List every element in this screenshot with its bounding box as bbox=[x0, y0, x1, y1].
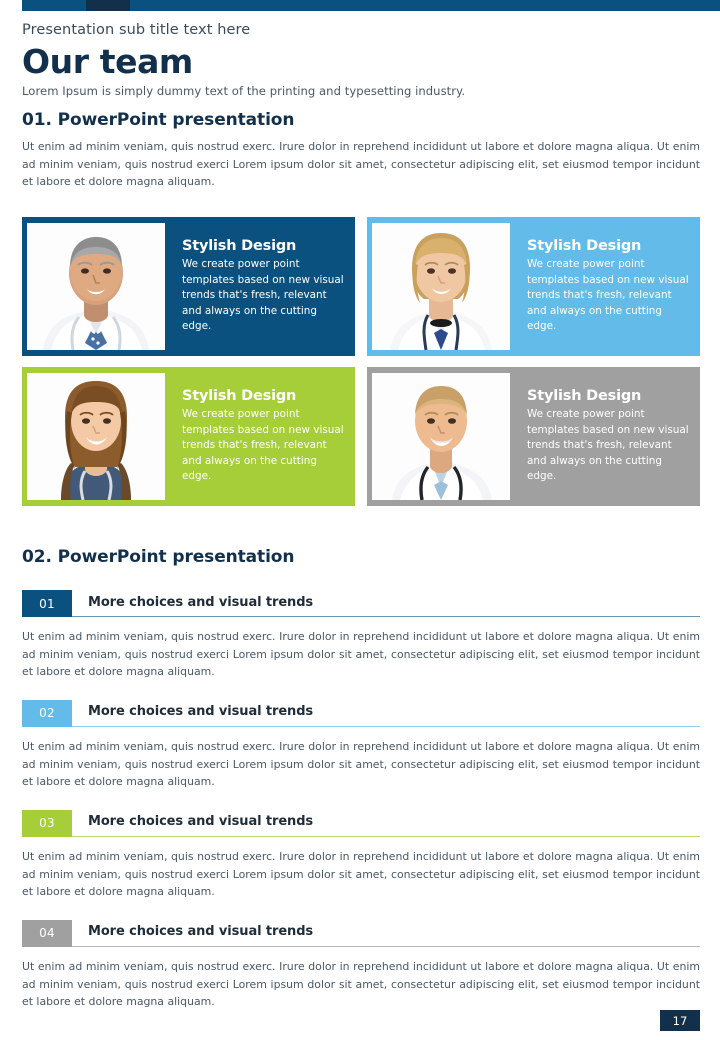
list-item-paragraph: Ut enim ad minim veniam, quis nostrud ex… bbox=[22, 628, 700, 681]
card-pointer bbox=[165, 425, 179, 451]
list-item-paragraph: Ut enim ad minim veniam, quis nostrud ex… bbox=[22, 958, 700, 1011]
list-item-title-wrap: More choices and visual trends bbox=[72, 920, 700, 947]
section-heading-02: 02. PowerPoint presentation bbox=[22, 547, 294, 567]
portrait-photo-male-doctor bbox=[27, 223, 165, 350]
list-item-header: 01 More choices and visual trends bbox=[22, 590, 700, 617]
topbar-segment-blue-right bbox=[130, 0, 720, 11]
card-text: Stylish Design We create power point tem… bbox=[165, 238, 356, 335]
topbar-left-margin bbox=[0, 0, 22, 11]
portrait-photo-female-doctor bbox=[372, 223, 510, 350]
card-text: Stylish Design We create power point tem… bbox=[165, 388, 356, 485]
list-item-header: 04 More choices and visual trends bbox=[22, 920, 700, 947]
list-item-number-badge: 04 bbox=[22, 920, 72, 947]
portrait-photo-female-nurse bbox=[27, 373, 165, 500]
section-paragraph-01: Ut enim ad minim veniam, quis nostrud ex… bbox=[22, 138, 700, 191]
list-item-title-wrap: More choices and visual trends bbox=[72, 700, 700, 727]
list-item[interactable]: 03 More choices and visual trends Ut eni… bbox=[22, 810, 700, 901]
list-item-paragraph: Ut enim ad minim veniam, quis nostrud ex… bbox=[22, 848, 700, 901]
card-photo-wrap bbox=[27, 223, 165, 350]
slide-header: Presentation sub title text here Our tea… bbox=[22, 22, 702, 98]
card-title: Stylish Design bbox=[527, 388, 693, 404]
card-title: Stylish Design bbox=[182, 238, 348, 254]
list-item-number-badge: 01 bbox=[22, 590, 72, 617]
slide: Presentation sub title text here Our tea… bbox=[0, 0, 720, 1040]
card-pointer bbox=[510, 275, 524, 301]
top-decorative-bar bbox=[0, 0, 720, 11]
team-card[interactable]: Stylish Design We create power point tem… bbox=[22, 217, 355, 356]
list-item-title-wrap: More choices and visual trends bbox=[72, 810, 700, 837]
card-title: Stylish Design bbox=[182, 388, 348, 404]
card-pointer bbox=[510, 425, 524, 451]
presentation-subtitle: Presentation sub title text here bbox=[22, 22, 702, 38]
team-card[interactable]: Stylish Design We create power point tem… bbox=[367, 217, 700, 356]
team-card[interactable]: Stylish Design We create power point tem… bbox=[367, 367, 700, 506]
list-item[interactable]: 02 More choices and visual trends Ut eni… bbox=[22, 700, 700, 791]
list-item-title: More choices and visual trends bbox=[88, 704, 313, 721]
list-item-header: 02 More choices and visual trends bbox=[22, 700, 700, 727]
list-item-title: More choices and visual trends bbox=[88, 924, 313, 941]
list-item-title-wrap: More choices and visual trends bbox=[72, 590, 700, 617]
topbar-segment-navy bbox=[86, 0, 130, 11]
list-item[interactable]: 04 More choices and visual trends Ut eni… bbox=[22, 920, 700, 1011]
section-heading-01: 01. PowerPoint presentation bbox=[22, 110, 294, 130]
list-item-header: 03 More choices and visual trends bbox=[22, 810, 700, 837]
numbered-list: 01 More choices and visual trends Ut eni… bbox=[22, 590, 700, 1030]
card-text: Stylish Design We create power point tem… bbox=[510, 238, 701, 335]
list-item-number-badge: 02 bbox=[22, 700, 72, 727]
page-title: Our team bbox=[22, 45, 702, 80]
list-item[interactable]: 01 More choices and visual trends Ut eni… bbox=[22, 590, 700, 681]
card-body: We create power point templates based on… bbox=[182, 257, 348, 335]
list-item-paragraph: Ut enim ad minim veniam, quis nostrud ex… bbox=[22, 738, 700, 791]
portrait-photo-male-nurse bbox=[372, 373, 510, 500]
list-item-number-badge: 03 bbox=[22, 810, 72, 837]
card-body: We create power point templates based on… bbox=[527, 257, 693, 335]
card-photo-wrap bbox=[372, 373, 510, 500]
list-item-title: More choices and visual trends bbox=[88, 595, 313, 612]
card-body: We create power point templates based on… bbox=[182, 407, 348, 485]
list-item-title: More choices and visual trends bbox=[88, 814, 313, 831]
card-text: Stylish Design We create power point tem… bbox=[510, 388, 701, 485]
card-body: We create power point templates based on… bbox=[527, 407, 693, 485]
team-card-grid: Stylish Design We create power point tem… bbox=[22, 217, 700, 506]
card-pointer bbox=[165, 275, 179, 301]
card-photo-wrap bbox=[372, 223, 510, 350]
card-title: Stylish Design bbox=[527, 238, 693, 254]
team-card[interactable]: Stylish Design We create power point tem… bbox=[22, 367, 355, 506]
card-photo-wrap bbox=[27, 373, 165, 500]
topbar-segment-blue-left bbox=[22, 0, 86, 11]
lead-paragraph: Lorem Ipsum is simply dummy text of the … bbox=[22, 84, 702, 98]
page-number-badge: 17 bbox=[660, 1010, 700, 1031]
